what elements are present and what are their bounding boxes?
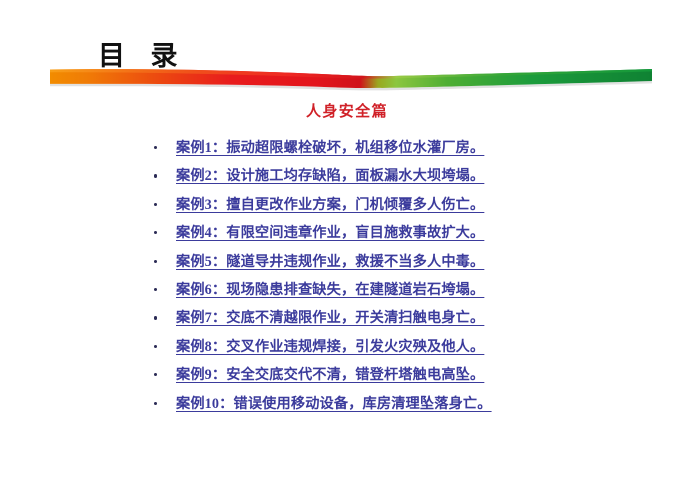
slide-canvas: 目 录 (0, 0, 700, 494)
list-item[interactable]: 案例6：现场隐患排查缺失，在建隧道岩石垮塌。 (152, 279, 582, 307)
bullet-icon (154, 203, 157, 206)
bullet-icon (154, 345, 157, 348)
list-item[interactable]: 案例5：隧道导井违规作业，救援不当多人中毒。 (152, 251, 582, 279)
case-link[interactable]: 案例8：交叉作业违规焊接，引发火灾殃及他人。 (176, 336, 484, 356)
bullet-icon (154, 174, 157, 177)
bullet-icon (154, 231, 157, 234)
bullet-icon (154, 260, 157, 263)
bullet-icon (154, 402, 157, 405)
list-item[interactable]: 案例9：安全交底交代不清，错登杆塔触电高坠。 (152, 364, 582, 392)
bullet-icon (154, 146, 157, 149)
case-link[interactable]: 案例7：交底不清越限作业，开关清扫触电身亡。 (176, 307, 484, 327)
wave-ribbon-shadow (50, 81, 652, 90)
bullet-icon (154, 316, 157, 319)
section-heading: 人身安全篇 (0, 102, 700, 122)
list-item[interactable]: 案例8：交叉作业违规焊接，引发火灾殃及他人。 (152, 336, 582, 364)
list-item[interactable]: 案例4：有限空间违章作业，盲目施救事故扩大。 (152, 222, 582, 250)
page-title: 目 录 (98, 40, 187, 72)
list-item[interactable]: 案例2：设计施工均存缺陷，面板漏水大坝垮塌。 (152, 165, 582, 193)
list-item[interactable]: 案例3：擅自更改作业方案，门机倾覆多人伤亡。 (152, 194, 582, 222)
case-list: 案例1：振动超限螺栓破坏，机组移位水灌厂房。 案例2：设计施工均存缺陷，面板漏水… (152, 137, 582, 421)
list-item[interactable]: 案例7：交底不清越限作业，开关清扫触电身亡。 (152, 307, 582, 335)
bullet-icon (154, 288, 157, 291)
case-link[interactable]: 案例6：现场隐患排查缺失，在建隧道岩石垮塌。 (176, 279, 484, 299)
case-link[interactable]: 案例5：隧道导井违规作业，救援不当多人中毒。 (176, 251, 484, 271)
case-link[interactable]: 案例2：设计施工均存缺陷，面板漏水大坝垮塌。 (176, 165, 484, 185)
case-link[interactable]: 案例10：错误使用移动设备，库房清理坠落身亡。 (176, 393, 492, 413)
bullet-icon (154, 373, 157, 376)
case-link[interactable]: 案例4：有限空间违章作业，盲目施救事故扩大。 (176, 222, 484, 242)
list-item[interactable]: 案例1：振动超限螺栓破坏，机组移位水灌厂房。 (152, 137, 582, 165)
case-link[interactable]: 案例1：振动超限螺栓破坏，机组移位水灌厂房。 (176, 137, 484, 157)
case-link[interactable]: 案例3：擅自更改作业方案，门机倾覆多人伤亡。 (176, 194, 484, 214)
case-link[interactable]: 案例9：安全交底交代不清，错登杆塔触电高坠。 (176, 364, 484, 384)
list-item[interactable]: 案例10：错误使用移动设备，库房清理坠落身亡。 (152, 393, 582, 421)
